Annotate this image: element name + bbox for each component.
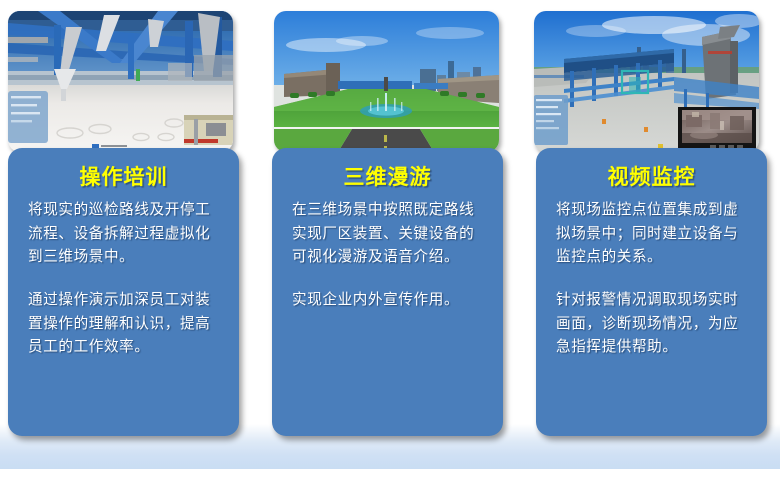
- card-paragraph: 将现实的巡检路线及开停工流程、设备拆解过程虚拟化到三维场景中。: [28, 198, 221, 269]
- card-title: 三维漫游: [272, 161, 503, 191]
- feature-card-3d-roaming[interactable]: 三维漫游 在三维场景中按照既定路线实现厂区装置、关键设备的可视化漫游及语音介绍。…: [272, 148, 503, 436]
- card-paragraph: 针对报警情况调取现场实时画面，诊断现场情况，为应急指挥提供帮助。: [556, 288, 749, 359]
- thumbnail-plant-interior-3d-scene[interactable]: [8, 11, 233, 152]
- card-paragraph: 将现场监控点位置集成到虚拟场景中；同时建立设备与监控点的关系。: [556, 198, 749, 269]
- card-title: 视频监控: [536, 161, 767, 191]
- card-paragraph: 在三维场景中按照既定路线实现厂区装置、关键设备的可视化漫游及语音介绍。: [292, 198, 485, 269]
- video-monitor-inset: [678, 107, 756, 152]
- feature-card-video-surveillance[interactable]: 视频监控 将现场监控点位置集成到虚拟场景中；同时建立设备与监控点的关系。 针对报…: [536, 148, 767, 436]
- thumbnail-plant-video-surveillance-3d-scene[interactable]: [534, 11, 759, 152]
- card-paragraph: 实现企业内外宣传作用。: [292, 288, 485, 312]
- feature-card-operation-training[interactable]: 操作培训 将现实的巡检路线及开停工流程、设备拆解过程虚拟化到三维场景中。 通过操…: [8, 148, 239, 436]
- card-paragraph: 通过操作演示加深员工对装置操作的理解和认识，提高员工的工作效率。: [28, 288, 221, 359]
- slide-canvas: 操作培训 将现实的巡检路线及开停工流程、设备拆解过程虚拟化到三维场景中。 通过操…: [0, 0, 780, 491]
- thumbnail-plant-exterior-3d-scene[interactable]: [274, 11, 499, 152]
- card-title: 操作培训: [8, 161, 239, 191]
- card-body: 将现场监控点位置集成到虚拟场景中；同时建立设备与监控点的关系。 针对报警情况调取…: [556, 198, 749, 359]
- card-body: 在三维场景中按照既定路线实现厂区装置、关键设备的可视化漫游及语音介绍。 实现企业…: [292, 198, 485, 312]
- card-body: 将现实的巡检路线及开停工流程、设备拆解过程虚拟化到三维场景中。 通过操作演示加深…: [28, 198, 221, 359]
